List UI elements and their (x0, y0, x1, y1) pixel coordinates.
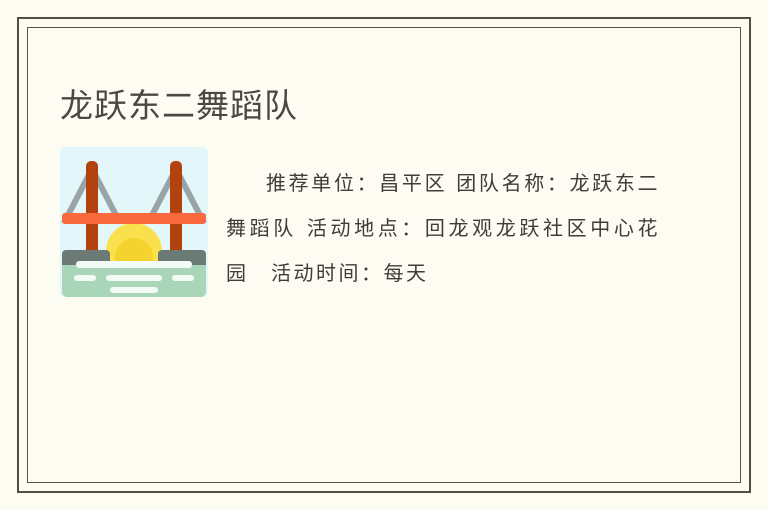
bridge-icon (60, 147, 208, 297)
content-area: 推荐单位：昌平区 团队名称：龙跃东二舞蹈队 活动地点：回龙观龙跃社区中心花园 活… (60, 147, 660, 303)
document-page: 龙跃东二舞蹈队 (0, 0, 768, 510)
page-title: 龙跃东二舞蹈队 (60, 84, 298, 128)
